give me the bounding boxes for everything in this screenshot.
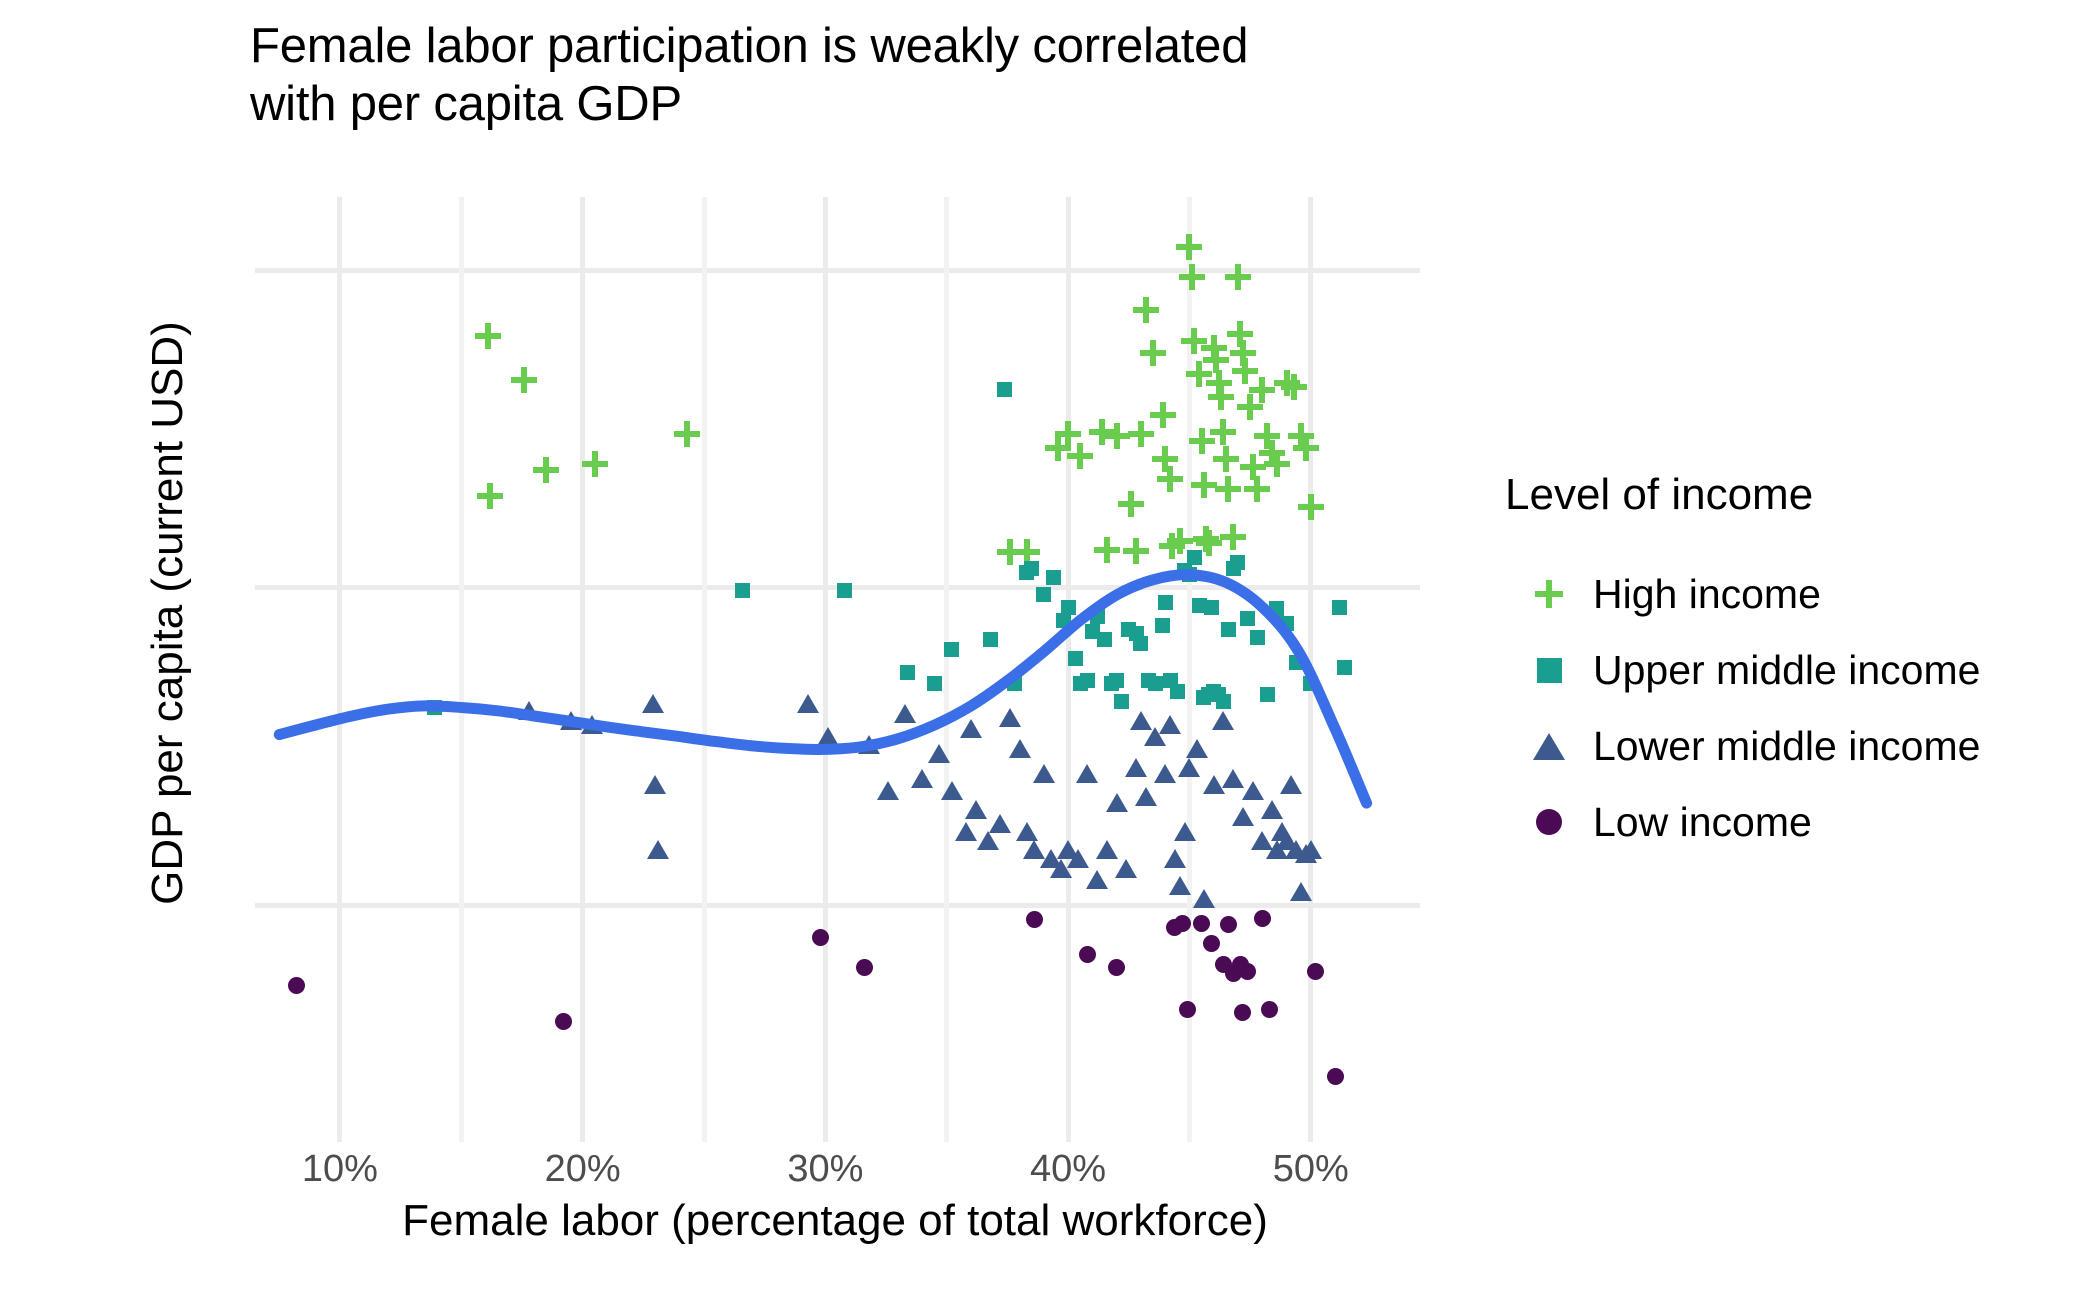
data-point xyxy=(1260,687,1275,702)
data-point xyxy=(1154,764,1176,783)
data-point xyxy=(1140,340,1166,366)
data-point xyxy=(911,769,933,788)
data-point xyxy=(1080,673,1095,688)
data-point xyxy=(518,701,540,720)
data-point xyxy=(1239,963,1256,980)
data-point xyxy=(858,735,880,754)
data-point xyxy=(1290,882,1312,901)
data-point xyxy=(1109,673,1124,688)
x-tick-label: 30% xyxy=(715,1148,935,1191)
data-point xyxy=(1108,959,1125,976)
legend-item-label: Upper middle income xyxy=(1593,647,1980,694)
data-point xyxy=(983,632,998,647)
data-point xyxy=(1203,935,1220,952)
data-point xyxy=(1179,1001,1196,1018)
data-point xyxy=(1164,849,1186,868)
data-point xyxy=(817,727,839,746)
data-point xyxy=(735,583,750,598)
data-point xyxy=(999,708,1021,727)
data-point xyxy=(989,814,1011,833)
data-point xyxy=(1187,550,1202,565)
plus-marker-icon xyxy=(1505,580,1593,608)
data-point xyxy=(1261,1001,1278,1018)
data-point xyxy=(1213,446,1239,472)
legend-items: High incomeUpper middle incomeLower midd… xyxy=(1505,556,2065,860)
data-point xyxy=(1024,561,1039,576)
data-point xyxy=(1230,555,1245,570)
data-point xyxy=(1174,822,1196,841)
data-point xyxy=(927,676,942,691)
gridline-x-major xyxy=(337,197,342,1142)
data-point xyxy=(427,700,442,715)
gridline-x-minor xyxy=(944,197,949,1142)
data-point xyxy=(1215,476,1241,502)
data-point xyxy=(1242,781,1264,800)
data-point xyxy=(894,704,916,723)
data-point xyxy=(1104,423,1130,449)
data-point xyxy=(1210,419,1236,445)
data-point xyxy=(288,977,305,994)
data-point xyxy=(1249,377,1275,403)
data-point xyxy=(1114,694,1129,709)
data-point xyxy=(1289,655,1304,670)
data-point xyxy=(1281,374,1307,400)
data-point xyxy=(1118,491,1144,517)
data-point xyxy=(1007,676,1022,691)
data-point xyxy=(1337,660,1352,675)
data-point xyxy=(1152,446,1178,472)
data-point xyxy=(837,583,852,598)
x-tick-label: 50% xyxy=(1201,1148,1421,1191)
data-point xyxy=(1061,600,1076,615)
data-point xyxy=(1068,651,1083,666)
data-point xyxy=(1193,915,1210,932)
legend-upper-middle-income[interactable]: Upper middle income xyxy=(1505,632,2065,708)
data-point xyxy=(1191,472,1217,498)
data-point xyxy=(856,959,873,976)
data-point xyxy=(1204,600,1219,615)
circle-marker-icon xyxy=(1505,809,1593,835)
gridline-x-major xyxy=(1308,197,1313,1142)
data-point xyxy=(1225,264,1251,290)
data-point xyxy=(560,711,582,730)
data-point xyxy=(644,775,666,794)
data-point xyxy=(1125,758,1147,777)
data-point xyxy=(1293,435,1319,461)
data-point xyxy=(1115,859,1137,878)
legend: Level of income High incomeUpper middle … xyxy=(1505,470,2065,860)
data-point xyxy=(900,665,915,680)
data-point xyxy=(965,800,987,819)
data-point xyxy=(1155,618,1170,633)
data-point xyxy=(1176,234,1202,260)
data-point xyxy=(581,715,603,734)
data-point xyxy=(1148,676,1163,691)
data-point xyxy=(928,744,950,763)
data-point xyxy=(1244,476,1270,502)
data-point xyxy=(1220,524,1246,550)
data-point xyxy=(1240,611,1255,626)
data-point xyxy=(511,367,537,393)
data-point xyxy=(1133,297,1159,323)
x-axis-title: Female labor (percentage of total workfo… xyxy=(255,1196,1415,1246)
data-point xyxy=(1036,587,1051,602)
legend-high-income[interactable]: High income xyxy=(1505,556,2065,632)
data-point xyxy=(1216,694,1231,709)
data-point xyxy=(1269,601,1284,616)
data-point xyxy=(1307,963,1324,980)
data-point xyxy=(877,781,899,800)
data-point xyxy=(1097,632,1112,647)
data-point xyxy=(1193,889,1215,908)
data-point xyxy=(1055,421,1081,447)
legend-low-income[interactable]: Low income xyxy=(1505,784,2065,860)
data-point xyxy=(977,831,999,850)
data-point xyxy=(1135,787,1157,806)
data-point xyxy=(1279,616,1294,631)
data-point xyxy=(1280,775,1302,794)
data-point xyxy=(944,642,959,657)
data-point xyxy=(1158,595,1173,610)
data-point xyxy=(475,323,501,349)
data-point xyxy=(941,781,963,800)
plot-panel xyxy=(255,197,1420,1142)
data-point xyxy=(477,483,503,509)
data-point xyxy=(1090,609,1105,624)
data-point xyxy=(1106,793,1128,812)
data-point xyxy=(1016,822,1038,841)
data-point xyxy=(1303,676,1318,691)
x-tick-label: 20% xyxy=(473,1148,693,1191)
data-point xyxy=(674,421,700,447)
chart-root: Female labor participation is weakly cor… xyxy=(0,0,2100,1297)
legend-title: Level of income xyxy=(1505,470,2065,520)
data-point xyxy=(1212,711,1234,730)
data-point xyxy=(1174,915,1191,932)
data-point xyxy=(960,719,982,738)
data-point xyxy=(1234,1004,1251,1021)
data-point xyxy=(533,457,559,483)
data-point xyxy=(1056,613,1071,628)
data-point xyxy=(1076,764,1098,783)
data-point xyxy=(1079,946,1096,963)
data-point xyxy=(1094,537,1120,563)
legend-item-label: Low income xyxy=(1593,799,1812,846)
data-point xyxy=(1086,870,1108,889)
data-point xyxy=(1221,622,1236,637)
data-point xyxy=(1046,570,1061,585)
legend-item-label: Lower middle income xyxy=(1593,723,1980,770)
gridline-x-minor xyxy=(459,197,464,1142)
page-title: Female labor participation is weakly cor… xyxy=(250,18,1750,134)
data-point xyxy=(997,382,1012,397)
data-point xyxy=(1254,910,1271,927)
data-point xyxy=(1133,636,1148,651)
data-point xyxy=(1186,739,1208,758)
data-point xyxy=(1182,567,1197,582)
data-point xyxy=(1261,800,1283,819)
data-point xyxy=(1159,715,1181,734)
gridline-x-major xyxy=(823,197,828,1142)
y-axis-title: GDP per capita (current USD) xyxy=(143,183,193,1043)
x-tick-label: 10% xyxy=(230,1148,450,1191)
data-point xyxy=(1332,600,1347,615)
x-tick-label: 40% xyxy=(958,1148,1178,1191)
data-point xyxy=(555,1013,572,1030)
data-point xyxy=(1250,630,1265,645)
square-marker-icon xyxy=(1505,658,1593,683)
data-point xyxy=(1220,916,1237,933)
data-point xyxy=(1123,538,1149,564)
data-point xyxy=(1264,451,1290,477)
data-point xyxy=(642,694,664,713)
data-point xyxy=(1232,807,1254,826)
gridline-x-major xyxy=(580,197,585,1142)
data-point xyxy=(1026,911,1043,928)
gridline-x-major xyxy=(1066,197,1071,1142)
data-point xyxy=(1298,494,1324,520)
data-point xyxy=(1327,1068,1344,1085)
legend-lower-middle-income[interactable]: Lower middle income xyxy=(1505,708,2065,784)
gridline-y xyxy=(255,903,1420,908)
data-point xyxy=(1170,684,1185,699)
data-point xyxy=(1067,849,1089,868)
triangle-marker-icon xyxy=(1505,733,1593,760)
data-point xyxy=(1033,764,1055,783)
data-point xyxy=(1300,840,1322,859)
data-point xyxy=(1128,421,1154,447)
data-point xyxy=(797,694,819,713)
data-point xyxy=(1208,384,1234,410)
data-point xyxy=(1179,264,1205,290)
data-point xyxy=(1096,840,1118,859)
data-point xyxy=(1178,758,1200,777)
data-point xyxy=(647,840,669,859)
data-point xyxy=(1009,739,1031,758)
legend-item-label: High income xyxy=(1593,571,1821,618)
data-point xyxy=(1130,711,1152,730)
data-point xyxy=(955,822,977,841)
gridline-x-minor xyxy=(702,197,707,1142)
data-point xyxy=(582,451,608,477)
data-point xyxy=(1169,876,1191,895)
